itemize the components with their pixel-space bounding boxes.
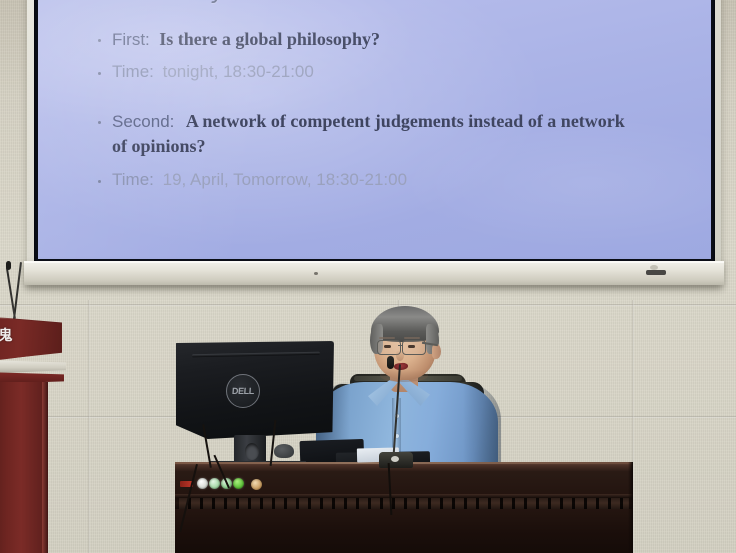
lectern-column-edge [42,382,48,553]
eyebrow-left [379,337,395,339]
control-indicator-4[interactable] [233,478,244,489]
bullet-second-label: Second: [112,112,174,131]
desk-slat-shadow [175,498,633,509]
control-volume-knob[interactable] [251,479,262,490]
slide-bullet-group-first: First: Is there a global philosophy? Tim… [96,28,687,85]
eye-left [384,345,391,348]
slide-content: University: First: Is there a global phi… [38,0,711,259]
ledge-mark [650,265,658,270]
bullet-second-time-label: Time: [112,170,154,189]
monitor-cable-passthrough [245,443,259,460]
slide-heading: University: [106,0,234,4]
bullet-second-emphasis: A network of competent judgements instea… [186,111,625,131]
desk-microphone-indicator [391,456,399,462]
presenter-desk [175,462,633,553]
bullet-first-emphasis: Is there a global philosophy? [159,29,380,49]
torso-shadow-right [463,382,501,474]
desk-lower-panel [175,509,633,553]
eyebrow-right [404,337,420,339]
ledge-top-edge [24,261,724,263]
wall-seam-upper [0,304,736,306]
desk-accessory [274,444,294,458]
bullet-second-time-value: 19, April, Tomorrow, 18:30-21:00 [163,170,407,189]
slide-bullet-first: First: Is there a global philosophy? [96,28,687,52]
control-indicator-2[interactable] [209,478,220,489]
lecture-hall-scene: University: First: Is there a global phi… [0,0,736,553]
chin-shadow [380,370,428,382]
dell-logo-icon: DELL [226,374,260,408]
bullet-second-emphasis-line2: of opinions? [112,135,687,159]
slide-bullet-second: Second: A network of competent judgement… [96,110,687,159]
nose [396,350,404,361]
lectern: 鬼 [0,316,68,553]
lectern-trim [0,360,66,374]
dell-monitor: DELL [176,341,334,473]
slide-bullet-group-second: Second: A network of competent judgement… [96,110,687,193]
projection-screen-assembly: University: First: Is there a global phi… [27,0,721,285]
lectern-microphone-head [6,261,11,270]
bullet-first-time-label: Time: [112,62,154,81]
desk-right-edge [628,462,633,553]
screen-bezel: University: First: Is there a global phi… [34,0,715,263]
slide-bullet-first-time: Time: tonight, 18:30-21:00 [96,61,687,83]
ledge-screw [314,272,318,275]
lectern-emblem: 鬼 [0,328,13,345]
bullet-first-time-value: tonight, 18:30-21:00 [163,62,314,81]
wall-seam-vertical-left [88,300,90,553]
bullet-first-label: First: [112,30,150,49]
ir-receiver-icon [646,270,666,275]
lectern-column [0,382,44,553]
presenter-ear [432,344,441,359]
lectern-top-face: 鬼 [0,316,62,362]
control-indicator-1[interactable] [197,478,208,489]
slide-bullet-second-time: Time: 19, April, Tomorrow, 18:30-21:00 [96,169,687,191]
eye-right [408,345,415,348]
dell-logo-text: DELL [232,386,255,396]
desk-microphone-head [387,356,394,369]
projection-surface: University: First: Is there a global phi… [38,0,711,259]
eyeglasses-bridge [398,345,403,346]
screen-ledge [24,261,724,285]
